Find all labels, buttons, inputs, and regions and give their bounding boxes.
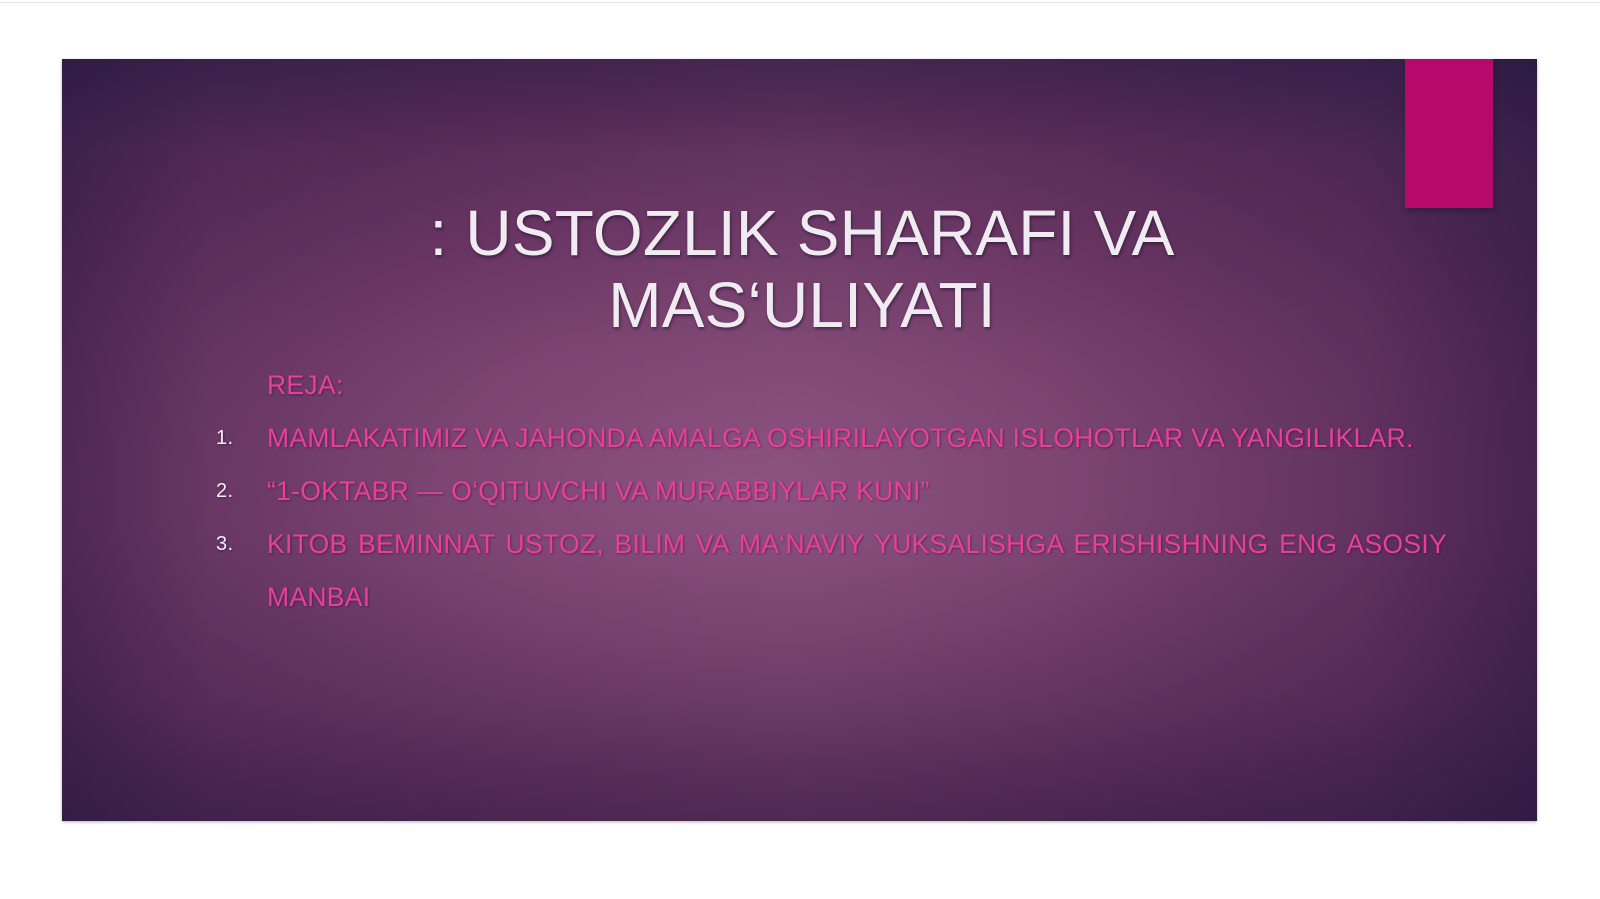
list-item: MAMLAKATIMIZ VA JAHONDA AMALGA OSHIRILAY… — [202, 412, 1447, 465]
presentation-slide: : USTOZLIK SHARAFI VA MAS‘ULIYATI REJA: … — [62, 59, 1537, 821]
slide-title: : USTOZLIK SHARAFI VA MAS‘ULIYATI — [232, 197, 1372, 342]
reja-label: REJA: — [267, 359, 1447, 412]
reja-list: MAMLAKATIMIZ VA JAHONDA AMALGA OSHIRILAY… — [202, 412, 1447, 624]
slide-body: REJA: MAMLAKATIMIZ VA JAHONDA AMALGA OSH… — [202, 359, 1447, 624]
accent-rectangle-decoration — [1405, 59, 1493, 208]
top-divider-rule — [0, 2, 1600, 3]
list-item: “1-OKTABR — O‘QITUVCHI VA MURABBIYLAR KU… — [202, 465, 1447, 518]
list-item: KITOB BEMINNAT USTOZ, BILIM VA MA‘NAVIY … — [202, 518, 1447, 624]
